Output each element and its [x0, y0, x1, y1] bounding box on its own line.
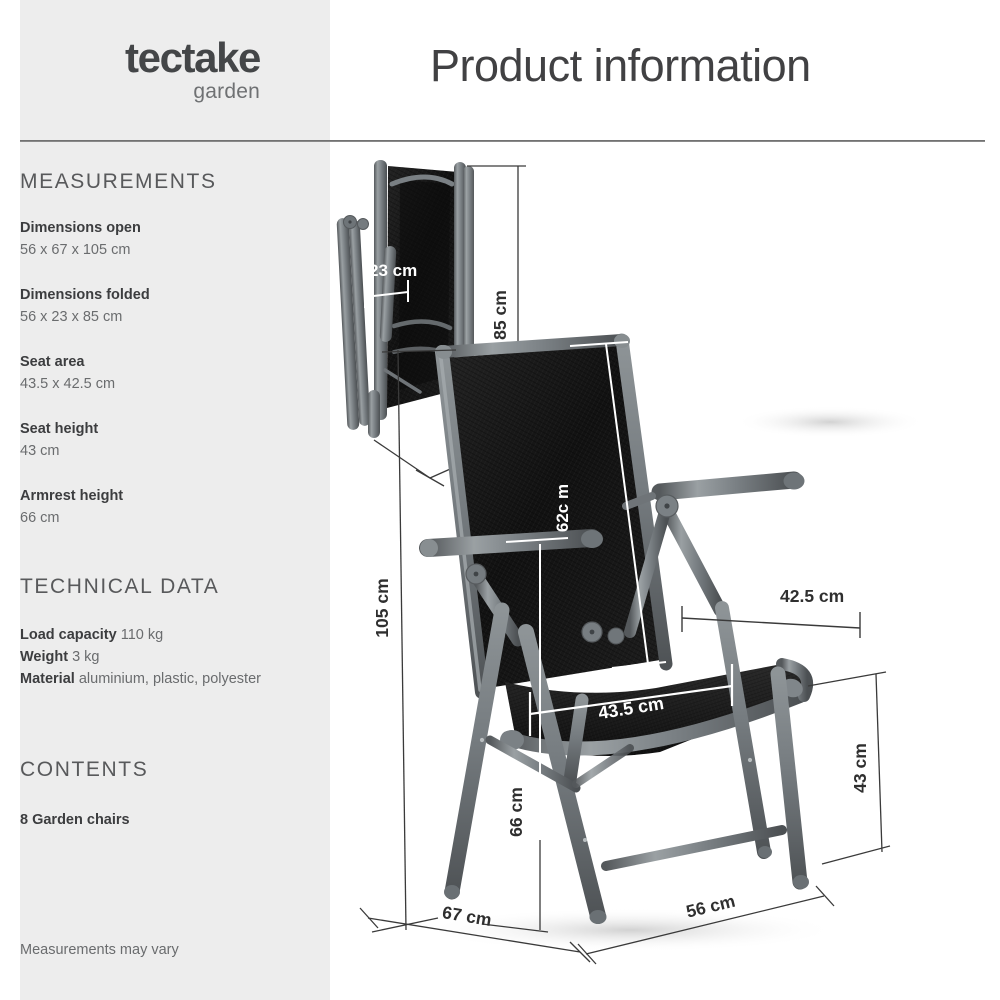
measurement-seat-height: Seat height 43 cm: [20, 419, 300, 463]
measurement-value: 43 cm: [20, 441, 300, 463]
measurement-label: Dimensions folded: [20, 285, 300, 307]
measurement-value: 43.5 x 42.5 cm: [20, 374, 300, 396]
technical-row-material: Material aluminium, plastic, polyester: [20, 668, 300, 690]
measurement-label: Dimensions open: [20, 218, 300, 240]
technical-data-list: Load capacity 110 kg Weight 3 kg Materia…: [20, 624, 300, 691]
measurement-dimensions-open: Dimensions open 56 x 67 x 105 cm: [20, 218, 300, 262]
technical-value: 110 kg: [121, 627, 163, 643]
section-heading-technical-data: TECHNICAL DATA: [20, 575, 219, 599]
dimension-overall-height: 105 cm: [372, 350, 456, 932]
measurement-value: 56 x 23 x 85 cm: [20, 307, 300, 329]
technical-label: Load capacity: [20, 627, 117, 643]
page-title: Product information: [430, 40, 811, 92]
dimension-label-folded-height: 85 cm: [490, 290, 510, 340]
measurement-armrest-height: Armrest height 66 cm: [20, 486, 300, 530]
measurement-value: 56 x 67 x 105 cm: [20, 240, 300, 262]
brand-name: tectake: [60, 38, 260, 78]
technical-label: Material: [20, 671, 75, 687]
measurement-label: Seat height: [20, 419, 300, 441]
contents-item: 8 Garden chairs: [20, 810, 300, 832]
technical-row-load-capacity: Load capacity 110 kg: [20, 624, 300, 646]
measurement-value: 66 cm: [20, 508, 300, 530]
section-heading-contents: CONTENTS: [20, 758, 148, 782]
technical-row-weight: Weight 3 kg: [20, 646, 300, 668]
measurement-label: Armrest height: [20, 486, 300, 508]
product-illustration: 23 cm 85 cm 56 cm: [330, 140, 1000, 1000]
contents-list: 8 Garden chairs: [20, 810, 300, 832]
measurement-seat-area: Seat area 43.5 x 42.5 cm: [20, 352, 300, 396]
section-heading-measurements: MEASUREMENTS: [20, 170, 217, 194]
brand-logo: tectake garden: [60, 38, 260, 105]
brand-subtitle: garden: [60, 79, 260, 105]
technical-label: Weight: [20, 649, 68, 665]
dimension-label-folded-depth: 23 cm: [369, 261, 417, 280]
measurement-dimensions-folded: Dimensions folded 56 x 23 x 85 cm: [20, 285, 300, 329]
technical-value: aluminium, plastic, polyester: [79, 671, 261, 687]
footnote: Measurements may vary: [20, 942, 179, 958]
measurement-label: Seat area: [20, 352, 300, 374]
product-information-sheet: tectake garden Product information MEASU…: [0, 0, 1000, 1000]
dimension-seat-height: 43 cm: [808, 672, 890, 864]
dimension-label-seat-height: 43 cm: [850, 743, 870, 793]
dimension-label-backrest-height: 62c m: [553, 484, 572, 532]
technical-value: 3 kg: [72, 649, 99, 665]
dimension-label-seat-depth: 42.5 cm: [780, 586, 844, 606]
dimension-label-overall-height: 105 cm: [372, 578, 392, 637]
dimension-label-armrest-height: 66 cm: [506, 787, 526, 837]
